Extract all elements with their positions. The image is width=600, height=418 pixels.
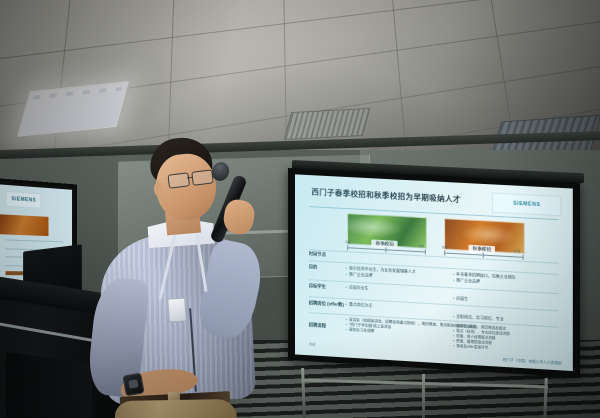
siemens-logo: SIEMENS (492, 193, 561, 217)
lectern-base (6, 352, 92, 418)
slide-title: 西门子春季校招和秋季校招为早期吸纳人才 (311, 186, 483, 206)
row-process-col-b: 宣讲会 (校园)、简历筛选及面试 笔试（在线）、专业岗位面试流程 初面、用人经理… (453, 323, 554, 354)
presentation-slide: 西门子春季校招和秋季校招为早期吸纳人才 SIEMENS 春季校招 秋季校招 (295, 174, 573, 371)
autumn-tick-3: 11月 (513, 249, 520, 254)
row-label-purpose: 目的 (309, 264, 318, 270)
row-positions-col-a: 重点岗位为主 (346, 301, 448, 313)
presenter (96, 138, 266, 418)
trousers (115, 399, 240, 418)
projector-screen: 西门子春季校招和秋季校招为早期吸纳人才 SIEMENS 春季校招 秋季校招 (288, 168, 580, 378)
spring-tick-1: 3月 (345, 240, 351, 245)
row-students-col-a: 应届毕业生 (346, 285, 448, 297)
spring-tick-2: 4月 (382, 242, 388, 247)
autumn-tick-1: 9月 (442, 246, 448, 251)
monitor-siemens-logo: SIEMENS (6, 191, 42, 209)
monitor-slide-image (0, 214, 48, 236)
siemens-logo-text: SIEMENS (513, 201, 540, 208)
row-process-col-a: 宣讲会（校园宣讲会、招聘会和重点院校）、简历筛选、笔试和在线测评及面试 “西门子… (346, 317, 448, 339)
photo-scene: 西门子春季校招和秋季校招为早期吸纳人才 SIEMENS 春季校招 秋季校招 (0, 0, 600, 418)
row-label-positions: 招聘岗位 (offer数) (309, 300, 344, 308)
row-label-time: 时间节点 (309, 251, 326, 258)
spring-tick-3: 5月 (418, 244, 424, 249)
slide-footer-left: 内部 (309, 341, 316, 346)
row-purpose-col-a: 吸引优秀毕业生，为业务发展储备人才 推广企业品牌 (346, 265, 448, 283)
screen-stand (294, 360, 579, 418)
row-purpose-col-b: 补充春季招聘缺口，完善企业梯队 推广企业品牌 (453, 271, 554, 289)
monitor-logo-text: SIEMENS (11, 196, 36, 203)
table-row: 目的 吸引优秀毕业生，为业务发展储备人才 推广企业品牌 补充春季招聘缺口，完善企… (309, 260, 559, 275)
id-badge (167, 297, 187, 322)
row-label-students: 目标学生 (309, 284, 326, 291)
row-label-process: 招聘流程 (309, 322, 326, 329)
autumn-tick-2: 10月 (478, 247, 486, 252)
projector-screen-assembly: 西门子春季校招和秋季校招为早期吸纳人才 SIEMENS 春季校招 秋季校招 (288, 160, 588, 410)
wristwatch (122, 373, 144, 397)
